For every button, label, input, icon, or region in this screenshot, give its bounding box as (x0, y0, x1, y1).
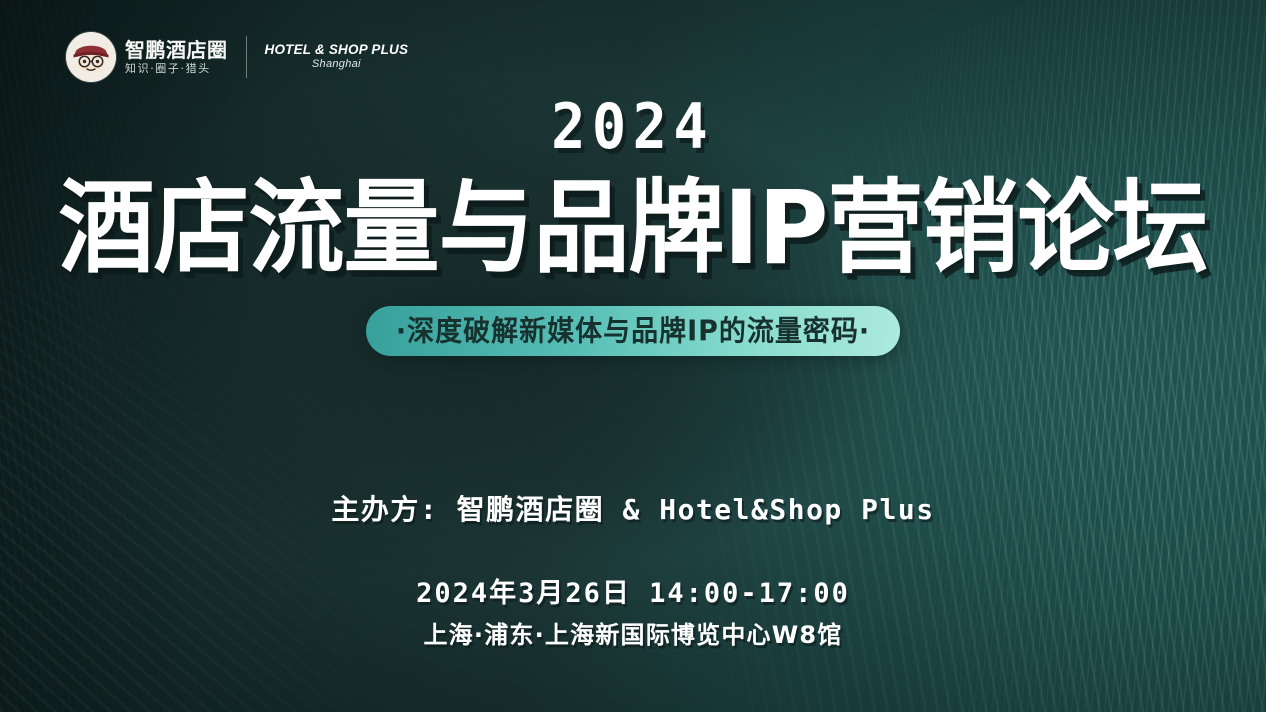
mascot-avatar-icon (66, 32, 116, 82)
brand-hotel-shop-plus-name: HOTEL & SHOP PLUS (265, 43, 409, 57)
brand-zhipeng-text: 智鹏酒店圈 知识·圈子·猎头 (125, 40, 228, 74)
poster-main-content: 2024 酒店流量与品牌IP营销论坛 ·深度破解新媒体与品牌IP的流量密码· 主… (0, 0, 1266, 712)
brand-hotel-shop-plus-sub: Shanghai (312, 59, 361, 70)
brand-hotel-shop-plus-text: HOTEL & SHOP PLUS Shanghai (265, 43, 409, 70)
event-title: 酒店流量与品牌IP营销论坛 (58, 177, 1207, 279)
event-datetime: 2024年3月26日 14:00-17:00 (416, 580, 850, 607)
event-year: 2024 (551, 96, 714, 158)
header-divider (246, 36, 247, 78)
event-subtitle-text: ·深度破解新媒体与品牌IP的流量密码· (396, 317, 870, 345)
header-logos: 智鹏酒店圈 知识·圈子·猎头 HOTEL & SHOP PLUS Shangha… (66, 26, 452, 87)
brand-zhipeng-tagline: 知识·圈子·猎头 (125, 63, 228, 74)
event-venue: 上海·浦东·上海新国际博览中心W8馆 (423, 623, 842, 647)
event-subtitle-pill: ·深度破解新媒体与品牌IP的流量密码· (366, 306, 900, 356)
brand-zhipeng-name: 智鹏酒店圈 (125, 40, 228, 60)
brand-zhipeng[interactable]: 智鹏酒店圈 知识·圈子·猎头 (66, 32, 228, 82)
event-organizer: 主办方: 智鹏酒店圈 & Hotel&Shop Plus (331, 496, 934, 524)
brand-hotel-shop-plus[interactable]: HOTEL & SHOP PLUS Shanghai (265, 26, 453, 87)
event-poster: 智鹏酒店圈 知识·圈子·猎头 HOTEL & SHOP PLUS Shangha… (0, 0, 1266, 712)
